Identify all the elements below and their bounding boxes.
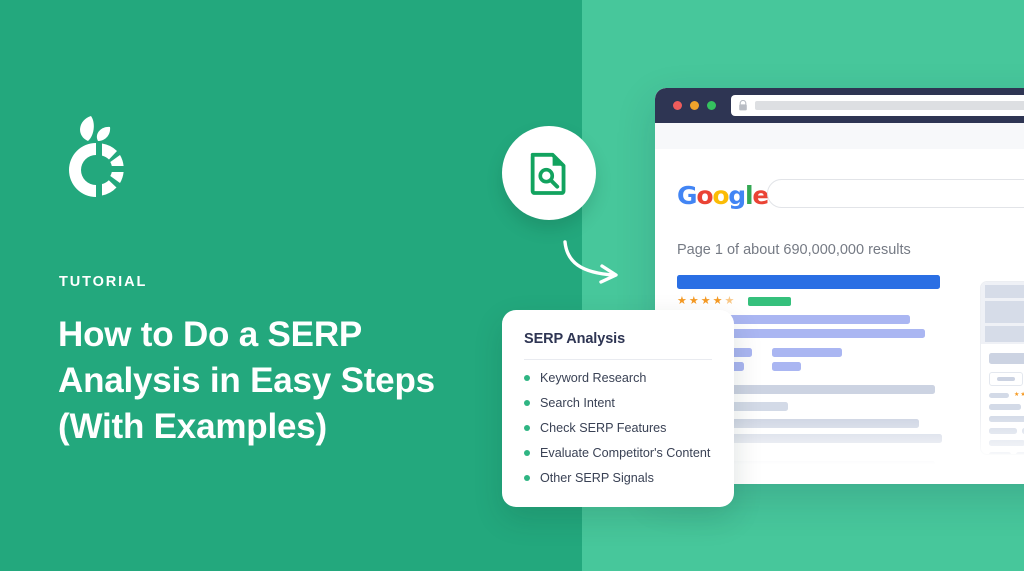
star-icon: ★ <box>1020 392 1024 398</box>
kp-button-row <box>989 372 1024 386</box>
status-badge <box>748 297 791 306</box>
address-bar[interactable] <box>731 95 1024 116</box>
image-tile <box>985 285 1024 298</box>
list-item[interactable]: Check SERP Features <box>524 421 712 435</box>
document-search-icon <box>529 151 569 195</box>
list-item[interactable]: Evaluate Competitor's Content <box>524 446 712 460</box>
maximize-icon[interactable] <box>707 101 716 110</box>
eyebrow-label: TUTORIAL <box>59 274 147 290</box>
sitelink[interactable] <box>772 362 801 371</box>
star-icon: ★ <box>677 296 687 307</box>
search-input[interactable] <box>767 179 1024 208</box>
bullet-icon <box>524 475 530 481</box>
list-item-label: Search Intent <box>540 396 615 410</box>
card-title: SERP Analysis <box>524 331 712 347</box>
sitelink[interactable] <box>772 348 842 357</box>
results-count: Page 1 of about 690,000,000 results <box>677 242 911 258</box>
list-item[interactable]: Search Intent <box>524 396 712 410</box>
result-title-bar[interactable] <box>677 275 940 289</box>
browser-chrome <box>655 88 1024 123</box>
curved-arrow <box>562 240 630 286</box>
card-divider <box>524 359 712 360</box>
serp-analysis-card: SERP Analysis Keyword Research Search In… <box>502 310 734 507</box>
bullet-icon <box>524 450 530 456</box>
knowledge-panel: ★ ★ ★ ★ ★ <box>980 281 1024 455</box>
brand-logo <box>58 110 136 200</box>
card-checklist: Keyword Research Search Intent Check SER… <box>524 371 712 485</box>
kp-rating-row: ★ ★ ★ ★ ★ <box>989 392 1024 398</box>
star-icon: ★ <box>713 296 723 307</box>
knowledge-panel-image-grid <box>981 282 1024 344</box>
kp-label <box>989 393 1009 398</box>
kp-rating-stars: ★ ★ ★ ★ ★ <box>1014 392 1024 398</box>
list-item-label: Other SERP Signals <box>540 471 654 485</box>
close-icon[interactable] <box>673 101 682 110</box>
banner-graphic: TUTORIAL How to Do a SERP Analysis in Ea… <box>0 0 1024 571</box>
left-panel: TUTORIAL How to Do a SERP Analysis in Ea… <box>0 0 582 571</box>
curved-arrow-icon <box>562 240 630 286</box>
page-top-strip <box>655 123 1024 149</box>
page-title: How to Do a SERP Analysis in Easy Steps … <box>58 312 488 450</box>
brand-logo-svg <box>58 110 136 200</box>
bullet-icon <box>524 400 530 406</box>
traffic-lights <box>673 101 716 110</box>
kp-button[interactable] <box>989 372 1023 386</box>
kp-title-placeholder <box>989 353 1024 364</box>
list-item-label: Check SERP Features <box>540 421 666 435</box>
star-icon: ★ <box>1014 392 1019 398</box>
star-icon: ★ <box>701 296 711 307</box>
lock-icon <box>738 100 748 111</box>
list-item[interactable]: Other SERP Signals <box>524 471 712 485</box>
rating-stars: ★ ★ ★ ★ ★ <box>677 296 940 307</box>
bullet-icon <box>524 375 530 381</box>
list-item-label: Evaluate Competitor's Content <box>540 446 710 460</box>
image-tile <box>985 326 1024 342</box>
minimize-icon[interactable] <box>690 101 699 110</box>
star-half-icon: ★ <box>725 296 735 307</box>
bullet-icon <box>524 425 530 431</box>
star-icon: ★ <box>689 296 699 307</box>
knowledge-panel-body: ★ ★ ★ ★ ★ <box>981 344 1024 455</box>
kp-detail-list <box>989 404 1024 455</box>
list-item[interactable]: Keyword Research <box>524 371 712 385</box>
address-bar-value <box>755 101 1024 110</box>
image-tile <box>985 301 1024 323</box>
list-item-label: Keyword Research <box>540 371 646 385</box>
document-search-badge <box>502 126 596 220</box>
google-logo: Google <box>677 181 768 210</box>
